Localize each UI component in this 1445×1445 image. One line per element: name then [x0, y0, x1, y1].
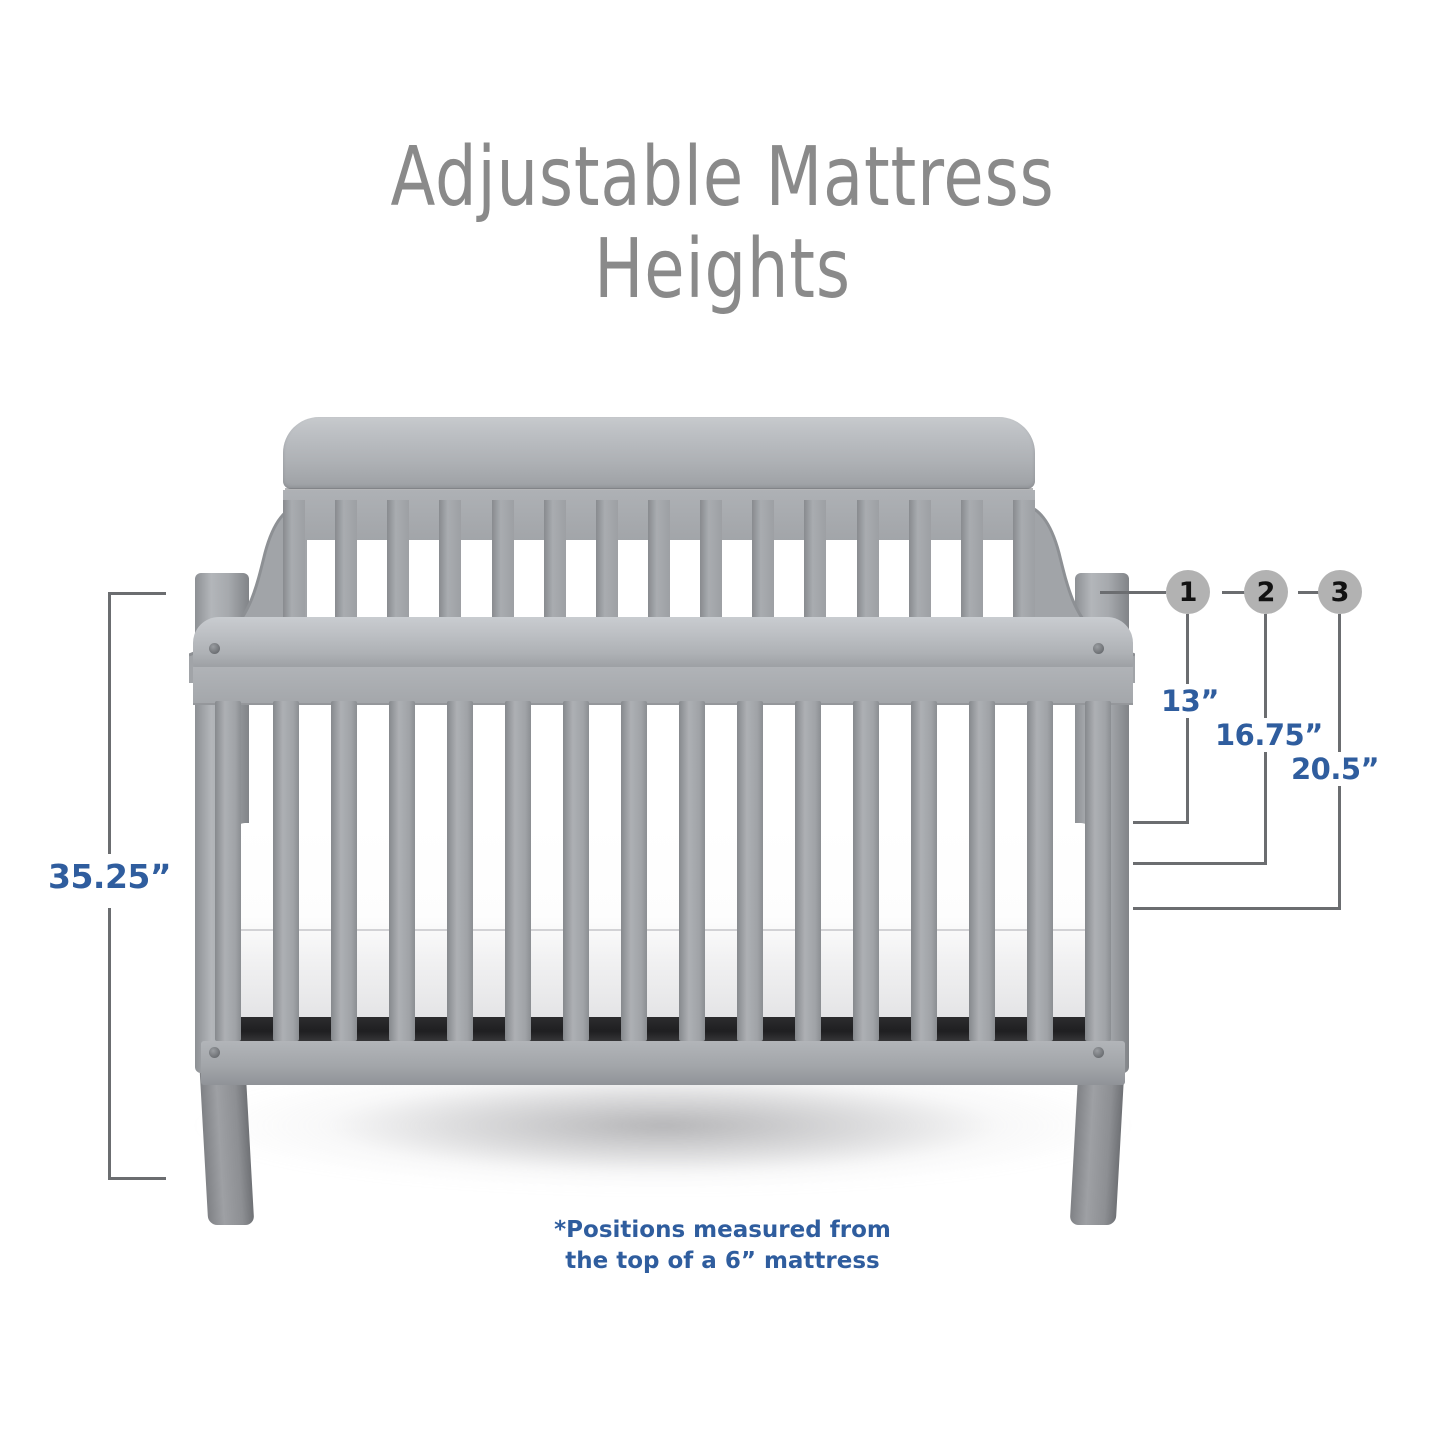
headboard-slat: [596, 500, 618, 628]
floor-shadow: [193, 1077, 1133, 1205]
headboard-slat: [387, 500, 409, 628]
front-slat: [1027, 701, 1053, 1041]
position-3-measure: 20.5”: [1288, 752, 1382, 786]
screw-cap: [209, 643, 220, 654]
position-1-measure: 13”: [1158, 684, 1222, 718]
headboard-slat: [804, 500, 826, 628]
front-slat: [853, 701, 879, 1041]
page-title: Adjustable Mattress Heights: [145, 132, 1301, 316]
headboard-slat: [283, 500, 305, 628]
screw-cap: [1093, 643, 1104, 654]
headboard-slat: [439, 500, 461, 628]
front-slat: [621, 701, 647, 1041]
front-slat: [215, 701, 241, 1041]
front-slat: [505, 701, 531, 1041]
front-slat: [447, 701, 473, 1041]
front-slat: [795, 701, 821, 1041]
headboard-slat: [492, 500, 514, 628]
callout-2-elbow: [1133, 862, 1267, 865]
headboard-slat: [752, 500, 774, 628]
headboard-slat: [909, 500, 931, 628]
base-rail: [201, 1041, 1125, 1085]
screw-cap: [209, 1047, 220, 1058]
headboard-slats: [283, 500, 1035, 628]
headboard-slat: [648, 500, 670, 628]
front-slat: [331, 701, 357, 1041]
callout-3-elbow: [1133, 907, 1341, 910]
headboard-slat: [857, 500, 879, 628]
front-slat: [273, 701, 299, 1041]
position-badge-2[interactable]: 2: [1244, 570, 1288, 614]
crib-illustration: [175, 405, 1150, 1195]
front-slat: [389, 701, 415, 1041]
headboard-seam: [285, 488, 1033, 490]
front-slat: [911, 701, 937, 1041]
headboard-slat: [961, 500, 983, 628]
dimension-bottom-cap: [108, 1177, 166, 1180]
headboard-slat: [1013, 500, 1035, 628]
footnote-text: *Positions measured from the top of a 6”…: [0, 1215, 1445, 1277]
callout-1-elbow: [1133, 821, 1189, 824]
headboard-slat: [544, 500, 566, 628]
front-sub-rail: [193, 667, 1133, 705]
front-slat: [679, 701, 705, 1041]
position-badge-3[interactable]: 3: [1318, 570, 1362, 614]
callout-1-stem: [1186, 614, 1189, 824]
adjustable-mattress-heights-diagram: Adjustable Mattress Heights: [0, 0, 1445, 1445]
screw-cap: [1093, 1047, 1104, 1058]
front-slat: [1085, 701, 1111, 1041]
callout-1-tick: [1100, 591, 1166, 594]
dimension-line-lower: [108, 908, 111, 1180]
overall-height-label: 35.25”: [48, 857, 178, 896]
front-top-rail: [193, 617, 1133, 669]
dimension-line-upper: [108, 592, 111, 854]
position-badge-1[interactable]: 1: [1166, 570, 1210, 614]
dimension-top-cap: [108, 592, 166, 595]
headboard-slat: [700, 500, 722, 628]
headboard-slat: [335, 500, 357, 628]
headboard-top-rail: [283, 417, 1035, 489]
position-2-measure: 16.75”: [1212, 718, 1326, 752]
front-slat: [563, 701, 589, 1041]
front-slat: [737, 701, 763, 1041]
mattress-position-callouts: 1 13” 2 16.75” 3 20.5”: [1100, 540, 1445, 960]
front-slat: [969, 701, 995, 1041]
front-slats: [215, 701, 1111, 1041]
